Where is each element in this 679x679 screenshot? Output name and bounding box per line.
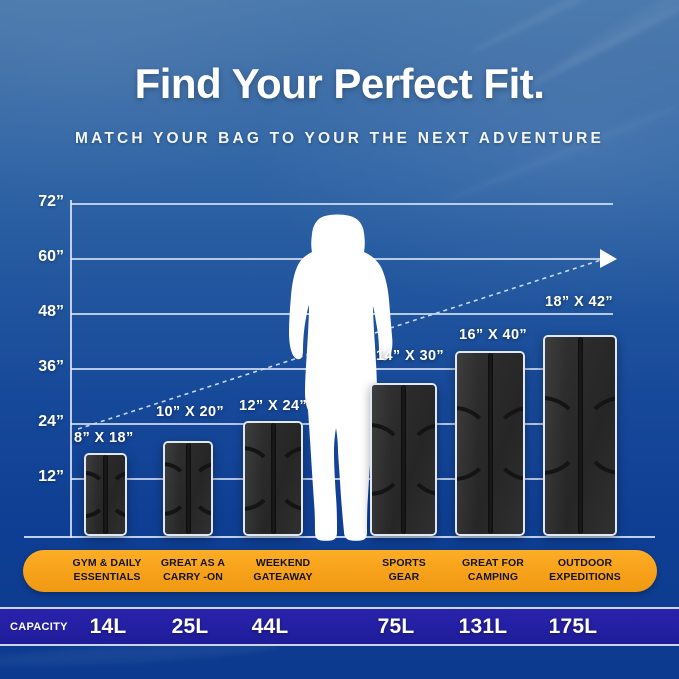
bag-center-strap xyxy=(488,353,493,534)
y-axis-tick-label: 12” xyxy=(2,468,64,486)
bag-bar[interactable] xyxy=(163,441,213,536)
capacity-value: 75L xyxy=(358,615,434,639)
y-axis-tick-label: 36” xyxy=(2,358,64,376)
category-bar: GYM & DAILYESSENTIALSGREAT AS ACARRY -ON… xyxy=(23,550,657,592)
capacity-value: 44L xyxy=(232,615,308,639)
gridline xyxy=(71,203,613,205)
bag-dimension-label: 12” X 24” xyxy=(239,398,307,414)
y-axis-tick-label: 72” xyxy=(2,193,64,211)
capacity-value: 25L xyxy=(152,615,228,639)
bag-dimension-label: 18” X 42” xyxy=(545,294,613,310)
bag-dimension-label: 8” X 18” xyxy=(74,430,134,446)
category-label: OUTDOOREXPEDITIONS xyxy=(532,557,638,584)
category-label-line1: GREAT AS A xyxy=(142,557,244,571)
bag-dimension-label: 10” X 20” xyxy=(156,404,224,420)
capacity-value: 14L xyxy=(70,615,146,639)
bag-center-strap xyxy=(578,337,583,534)
category-label-line1: SPORTS xyxy=(358,557,450,571)
y-axis-tick-label: 48” xyxy=(2,303,64,321)
infographic-canvas: Find Your Perfect Fit. MATCH YOUR BAG TO… xyxy=(0,0,679,679)
category-label: SPORTSGEAR xyxy=(358,557,450,584)
bag-center-strap xyxy=(103,455,108,534)
bag-bar[interactable] xyxy=(455,351,525,536)
bag-dimension-label: 16” X 40” xyxy=(459,327,527,343)
bag-bar[interactable] xyxy=(370,383,437,536)
y-axis-tick-label: 24” xyxy=(2,413,64,431)
capacity-strip: CAPACITY 14L25L44L75L131L175L xyxy=(0,607,679,646)
category-label-line2: CARRY -ON xyxy=(142,571,244,585)
category-label-line2: EXPEDITIONS xyxy=(532,571,638,585)
category-label-line2: CAMPING xyxy=(444,571,542,585)
bag-bar[interactable] xyxy=(243,421,303,536)
bag-bar[interactable] xyxy=(84,453,127,536)
bag-bar[interactable] xyxy=(543,335,617,536)
bag-center-strap xyxy=(186,443,191,534)
category-label: GREAT AS ACARRY -ON xyxy=(142,557,244,584)
category-label-line1: OUTDOOR xyxy=(532,557,638,571)
y-axis-tick-label: 60” xyxy=(2,248,64,266)
bag-dimension-label: 14” X 30” xyxy=(376,348,444,364)
bag-center-strap xyxy=(401,385,406,534)
category-label-line1: WEEKEND xyxy=(232,557,334,571)
bag-center-strap xyxy=(271,423,276,534)
category-label: WEEKENDGATEAWAY xyxy=(232,557,334,584)
category-label-line1: GREAT FOR xyxy=(444,557,542,571)
category-label-line2: GEAR xyxy=(358,571,450,585)
capacity-value: 131L xyxy=(442,615,524,639)
capacity-value: 175L xyxy=(530,615,616,639)
category-label: GREAT FORCAMPING xyxy=(444,557,542,584)
category-label-line2: GATEAWAY xyxy=(232,571,334,585)
